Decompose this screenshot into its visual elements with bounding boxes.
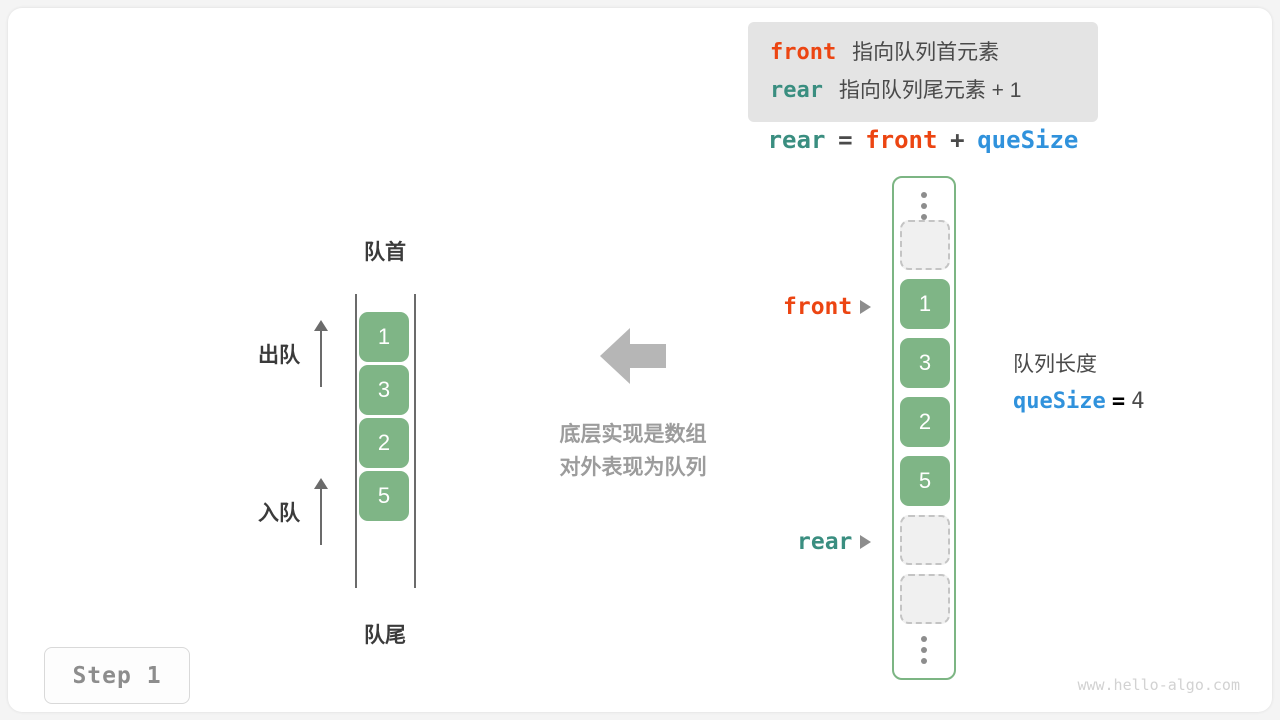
quesize-note: 队列长度 queSize = 4 <box>1013 348 1144 414</box>
rear-pointer-label: rear <box>797 529 852 555</box>
legend-row-rear: rear 指向队列尾元素 + 1 <box>770 72 1098 110</box>
rear-pointer: rear <box>797 529 871 555</box>
dequeue-arrow-up-icon <box>314 320 328 388</box>
queue-cell: 1 <box>359 312 409 362</box>
array-cell-filled: 3 <box>900 338 950 388</box>
quesize-name: queSize <box>1013 389 1106 414</box>
formula-front: front <box>865 126 937 154</box>
array-cell-filled: 2 <box>900 397 950 447</box>
formula-equals: = <box>838 126 852 154</box>
queue-cell: 2 <box>359 418 409 468</box>
array-cell-filled: 1 <box>900 279 950 329</box>
step-badge: Step 1 <box>44 647 190 704</box>
quesize-note-expression: queSize = 4 <box>1013 388 1144 414</box>
queue-tail-label: 队尾 <box>315 619 455 649</box>
ellipsis-top-icon <box>921 192 927 220</box>
queue-cell: 5 <box>359 471 409 521</box>
array-container: 1 3 2 5 <box>892 176 956 680</box>
diagram-card: front 指向队列首元素 rear 指向队列尾元素 + 1 rear = fr… <box>8 8 1272 712</box>
queue-rail-left <box>355 294 357 588</box>
array-cell-empty <box>900 574 950 624</box>
queue-head-label: 队首 <box>315 236 455 266</box>
queue-rail-right <box>414 294 416 588</box>
enqueue-arrow-up-icon <box>314 478 328 546</box>
dequeue-indicator: 出队 <box>258 320 328 388</box>
center-caption-line2: 对外表现为队列 <box>508 451 758 484</box>
legend-key-front: front <box>770 40 836 65</box>
pointer-legend-box: front 指向队列首元素 rear 指向队列尾元素 + 1 <box>748 22 1098 122</box>
ellipsis-bottom-icon <box>921 636 927 664</box>
front-pointer-label: front <box>783 294 852 320</box>
formula-plus: + <box>950 126 964 154</box>
array-cell-filled: 5 <box>900 456 950 506</box>
formula-quesize: queSize <box>977 126 1078 154</box>
queue-cell: 3 <box>359 365 409 415</box>
rear-formula: rear = front + queSize <box>748 126 1098 155</box>
front-pointer: front <box>783 294 871 320</box>
formula-rear: rear <box>768 126 826 154</box>
enqueue-indicator: 入队 <box>258 478 328 546</box>
front-pointer-arrow-icon <box>860 300 871 314</box>
array-cell-empty <box>900 220 950 270</box>
left-arrow-icon <box>600 328 666 384</box>
array-cell-empty <box>900 515 950 565</box>
dequeue-label: 出队 <box>258 339 300 369</box>
quesize-equals: = <box>1112 389 1125 414</box>
enqueue-label: 入队 <box>258 497 300 527</box>
legend-row-front: front 指向队列首元素 <box>770 34 1098 72</box>
legend-desc-front: 指向队列首元素 <box>852 41 999 64</box>
diagram-canvas: front 指向队列首元素 rear 指向队列尾元素 + 1 rear = fr… <box>0 0 1280 720</box>
center-caption-line1: 底层实现是数组 <box>508 418 758 451</box>
rear-pointer-arrow-icon <box>860 535 871 549</box>
legend-key-rear: rear <box>770 78 823 103</box>
center-caption: 底层实现是数组 对外表现为队列 <box>508 418 758 484</box>
watermark: www.hello-algo.com <box>1077 676 1240 694</box>
quesize-note-title: 队列长度 <box>1013 348 1144 378</box>
quesize-value: 4 <box>1131 389 1144 414</box>
legend-desc-rear: 指向队列尾元素 + 1 <box>839 79 1022 102</box>
